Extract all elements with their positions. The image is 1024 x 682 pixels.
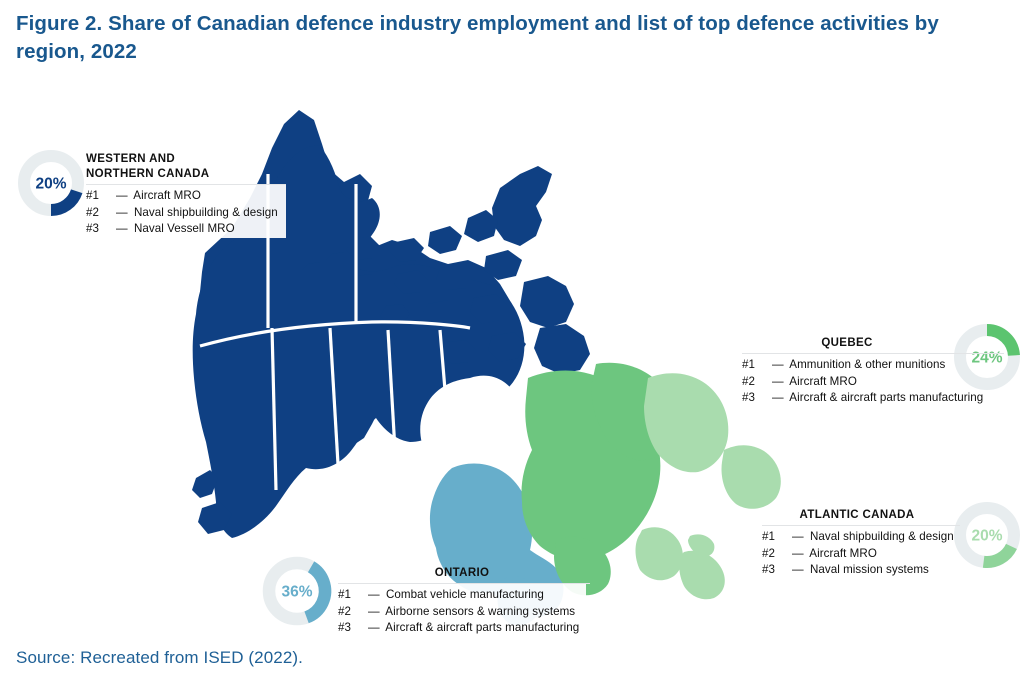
callout-title: WESTERN AND NORTHERN CANADA	[86, 152, 286, 182]
activity-dash: —	[116, 189, 131, 202]
map-shape-nova-scotia	[679, 551, 725, 599]
activity-rank: #2	[762, 546, 792, 563]
activity-rank: #2	[86, 205, 116, 222]
activity-dash: —	[772, 391, 787, 404]
activity-label: Ammunition & other munitions	[789, 358, 945, 371]
callout-quebec: QUEBEC #1— Ammunition & other munitions …	[742, 336, 952, 407]
callout-title-line1: WESTERN AND	[86, 153, 175, 165]
activity-dash: —	[792, 530, 807, 543]
activity-label: Aircraft MRO	[809, 547, 877, 560]
callout-western-and-northern-canada: WESTERN AND NORTHERN CANADA #1— Aircraft…	[86, 152, 286, 238]
callout-title: ATLANTIC CANADA	[762, 508, 952, 523]
activity-rank: #3	[338, 620, 368, 637]
activity-dash: —	[772, 375, 787, 388]
activity-dash: —	[368, 621, 383, 634]
callout-title: ONTARIO	[338, 566, 586, 581]
list-item: #2— Aircraft MRO	[762, 546, 952, 563]
activity-rank: #3	[762, 562, 792, 579]
source-note: Source: Recreated from ISED (2022).	[16, 648, 303, 668]
donut-value-label: 20%	[35, 176, 66, 193]
list-item: #3— Naval mission systems	[762, 562, 952, 579]
donut-ontario: 36%	[258, 552, 336, 630]
activity-rank: #1	[762, 529, 792, 546]
page-title: Figure 2. Share of Canadian defence indu…	[16, 10, 996, 66]
donut-atlantic-canada: 20%	[950, 498, 1024, 572]
activity-dash: —	[792, 563, 807, 576]
activity-list: #1— Naval shipbuilding & design #2— Airc…	[762, 526, 952, 579]
list-item: #2— Airborne sensors & warning systems	[338, 604, 586, 621]
list-item: #1— Ammunition & other munitions	[742, 357, 952, 374]
activity-label: Aircraft MRO	[789, 375, 857, 388]
list-item: #3— Aircraft & aircraft parts manufactur…	[338, 620, 586, 637]
activity-rank: #1	[338, 587, 368, 604]
callout-atlantic-canada: ATLANTIC CANADA #1— Naval shipbuilding &…	[762, 508, 952, 579]
activity-list: #1— Ammunition & other munitions #2— Air…	[742, 354, 952, 407]
list-item: #2— Naval shipbuilding & design	[86, 205, 286, 222]
donut-value-label: 36%	[281, 584, 312, 601]
activity-rank: #3	[86, 221, 116, 238]
activity-label: Naval shipbuilding & design	[134, 206, 278, 219]
list-item: #2— Aircraft MRO	[742, 374, 952, 391]
activity-rank: #1	[86, 188, 116, 205]
activity-dash: —	[116, 206, 131, 219]
map-shape-newfoundland	[722, 445, 781, 509]
activity-list: #1— Aircraft MRO #2— Naval shipbuilding …	[86, 185, 286, 238]
list-item: #1— Naval shipbuilding & design	[762, 529, 952, 546]
activity-list: #1— Combat vehicle manufacturing #2— Air…	[338, 584, 586, 637]
donut-value-label: 20%	[971, 528, 1002, 545]
callout-title-line2: NORTHERN CANADA	[86, 168, 209, 180]
map-shape-haida-gwaii	[192, 470, 218, 498]
activity-dash: —	[792, 547, 807, 560]
activity-label: Aircraft MRO	[133, 189, 201, 202]
donut-western-and-northern-canada: 20%	[14, 146, 88, 220]
activity-label: Aircraft & aircraft parts manufacturing	[385, 621, 579, 634]
activity-rank: #1	[742, 357, 772, 374]
callout-title: QUEBEC	[742, 336, 952, 351]
activity-rank: #2	[338, 604, 368, 621]
list-item: #3— Naval Vessell MRO	[86, 221, 286, 238]
activity-label: Naval Vessell MRO	[134, 222, 235, 235]
list-item: #1— Combat vehicle manufacturing	[338, 587, 586, 604]
activity-rank: #3	[742, 390, 772, 407]
activity-dash: —	[368, 588, 383, 601]
donut-quebec: 24%	[950, 320, 1024, 394]
activity-label: Combat vehicle manufacturing	[386, 588, 544, 601]
activity-label: Airborne sensors & warning systems	[385, 605, 575, 618]
activity-rank: #2	[742, 374, 772, 391]
list-item: #1— Aircraft MRO	[86, 188, 286, 205]
activity-dash: —	[116, 222, 131, 235]
list-item: #3— Aircraft & aircraft parts manufactur…	[742, 390, 952, 407]
activity-label: Naval mission systems	[810, 563, 929, 576]
map-shape-new-brunswick	[636, 527, 683, 580]
activity-label: Naval shipbuilding & design	[810, 530, 954, 543]
activity-label: Aircraft & aircraft parts manufacturing	[789, 391, 983, 404]
activity-dash: —	[772, 358, 787, 371]
callout-ontario: ONTARIO #1— Combat vehicle manufacturing…	[338, 566, 586, 637]
activity-dash: —	[368, 605, 383, 618]
